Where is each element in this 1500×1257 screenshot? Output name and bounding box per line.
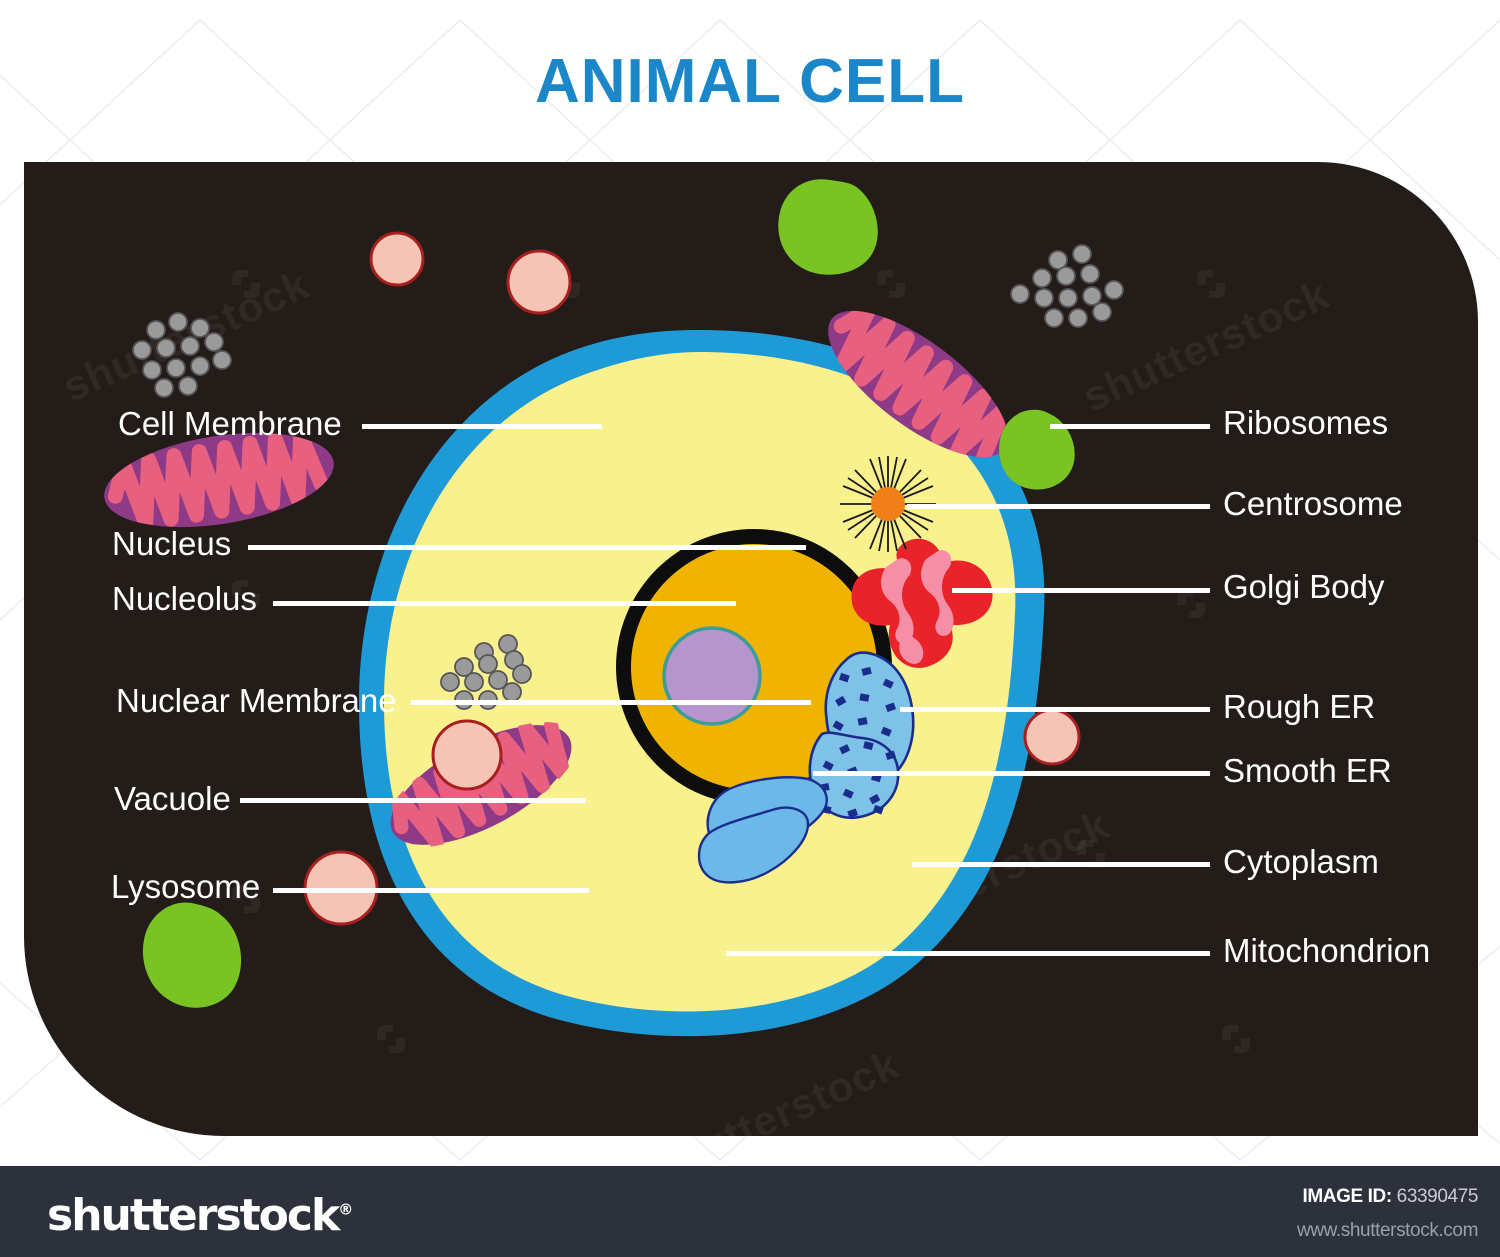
- leader-line-cytoplasm: [912, 862, 1210, 867]
- ribosome-cluster-1: [133, 313, 231, 397]
- shutterstock-wordmark: shutterstock: [47, 1190, 338, 1241]
- leader-line-rough-er: [900, 707, 1210, 712]
- leader-line-cell-membrane: [362, 424, 602, 429]
- leader-line-lysosome: [273, 888, 589, 893]
- lysosome-3: [433, 721, 501, 789]
- vacuole-3: [143, 902, 241, 1007]
- leader-line-nuclear-membrane: [411, 700, 811, 705]
- label-golgi-body: Golgi Body: [1223, 568, 1384, 606]
- lysosome-4: [1025, 710, 1079, 764]
- leader-line-smooth-er: [813, 771, 1210, 776]
- animal-cell-illustration: [24, 162, 1478, 1136]
- label-ribosomes: Ribosomes: [1223, 404, 1388, 442]
- leader-line-nucleus: [248, 545, 806, 550]
- page-title: ANIMAL CELL: [0, 46, 1500, 117]
- diagram-panel: shutterstock shutterstock shutterstock s…: [24, 162, 1478, 1136]
- ribosome-cluster-2: [1011, 245, 1123, 327]
- nucleolus-shape: [664, 628, 760, 724]
- label-cytoplasm: Cytoplasm: [1223, 843, 1379, 881]
- leader-line-golgi-body: [952, 588, 1210, 593]
- shutterstock-logo: shutterstock®: [47, 1190, 353, 1241]
- vacuole-1: [778, 179, 877, 275]
- leader-line-vacuole: [240, 798, 586, 803]
- label-nucleus: Nucleus: [112, 525, 231, 563]
- leader-line-ribosomes: [1050, 424, 1210, 429]
- label-smooth-er: Smooth ER: [1223, 752, 1392, 790]
- shutterstock-url: www.shutterstock.com: [1297, 1220, 1478, 1242]
- label-nuclear-membrane: Nuclear Membrane: [116, 682, 397, 720]
- vacuole-2: [999, 410, 1075, 490]
- label-centrosome: Centrosome: [1223, 485, 1403, 523]
- label-rough-er: Rough ER: [1223, 688, 1375, 726]
- leader-line-mitochondrion: [726, 951, 1210, 956]
- label-cell-membrane: Cell Membrane: [118, 405, 342, 443]
- image-id: IMAGE ID: 63390475: [1302, 1186, 1478, 1208]
- label-mitochondrion: Mitochondrion: [1223, 932, 1430, 970]
- registered-mark: ®: [338, 1200, 353, 1218]
- label-nucleolus: Nucleolus: [112, 580, 257, 618]
- lysosome-1: [371, 233, 423, 285]
- image-id-key: IMAGE ID:: [1302, 1186, 1391, 1207]
- leader-line-nucleolus: [273, 601, 736, 606]
- label-vacuole: Vacuole: [114, 780, 231, 818]
- leader-line-centrosome: [907, 504, 1210, 509]
- label-lysosome: Lysosome: [111, 868, 260, 906]
- lysosome-2: [508, 251, 570, 313]
- image-id-value: 63390475: [1397, 1186, 1478, 1207]
- screenshot-root: ANIMAL CELL shutterstock shutterstock sh…: [0, 0, 1500, 1257]
